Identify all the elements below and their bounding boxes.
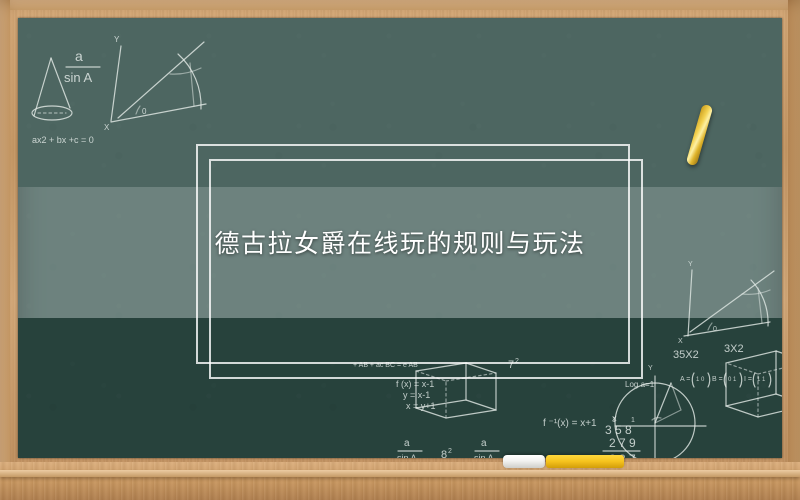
- page-title: 德古拉女爵在线玩的规则与玩法: [18, 224, 782, 260]
- screenshot-stage: a sin A ax2 + bx +c = 0 Y X 0: [0, 0, 800, 500]
- frame-bevel-top: [0, 0, 800, 10]
- chalk-ledge: [0, 462, 800, 500]
- chalkboard: a sin A ax2 + bx +c = 0 Y X 0: [18, 18, 782, 458]
- yellow-chalk-stick: [546, 455, 624, 468]
- decorative-frame-inner: [209, 159, 643, 379]
- chalk-ledge-lip: [0, 470, 800, 477]
- frame-bevel-right: [788, 0, 800, 500]
- svg-text:Y: Y: [688, 261, 693, 268]
- frame-bevel-left: [0, 0, 10, 500]
- white-chalk-stick: [503, 455, 545, 468]
